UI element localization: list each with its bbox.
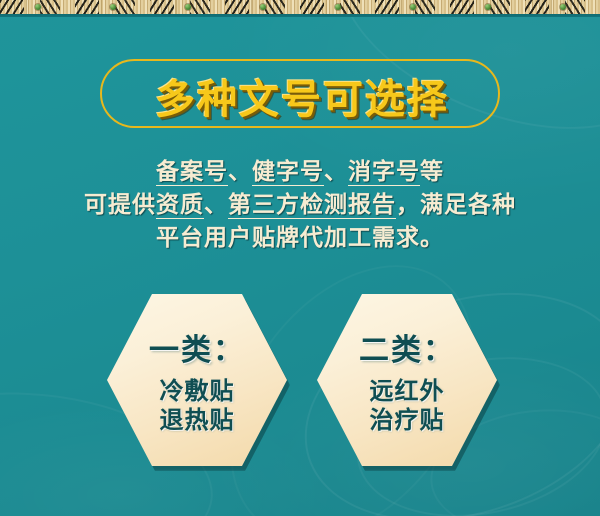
border-dot-icon <box>485 4 491 10</box>
body-text-underlined: 健字号 <box>252 159 324 186</box>
poster-canvas: 多种文号可选择 备案号、健字号、消字号等可提供资质、第三方检测报告，满足各种平台… <box>0 0 600 516</box>
decorative-border <box>0 0 600 17</box>
body-text-run: 、 <box>228 159 252 184</box>
border-dot-icon <box>335 4 341 10</box>
border-dot-icon <box>260 4 266 10</box>
body-line: 备案号、健字号、消字号等 <box>0 155 600 188</box>
body-text-run: ，满足各种 <box>396 192 516 217</box>
body-text-run: 等 <box>420 159 444 184</box>
border-dot-icon <box>35 4 41 10</box>
body-text-underlined: 资质 <box>156 192 204 219</box>
page-title: 多种文号可选择 <box>102 61 502 130</box>
border-baseline <box>0 14 600 17</box>
body-text-underlined: 消字号 <box>348 159 420 186</box>
border-dot-icon <box>410 4 416 10</box>
body-text-run: 可提供 <box>84 192 156 217</box>
border-dot-icon <box>560 4 566 10</box>
category-item: 治疗贴 <box>370 407 445 436</box>
body-line: 可提供资质、第三方检测报告，满足各种 <box>0 188 600 221</box>
body-line: 平台用户贴牌代加工需求。 <box>0 221 600 254</box>
body-text-underlined: 备案号 <box>156 159 228 186</box>
headline-pill: 多种文号可选择 <box>100 59 500 128</box>
body-text-run: 平台用户贴牌代加工需求。 <box>156 225 444 250</box>
category-item: 冷敷贴 <box>160 378 235 407</box>
body-text-run: 、 <box>324 159 348 184</box>
body-text-underlined: 第三方检测报告 <box>228 192 396 219</box>
border-dot-icon <box>185 4 191 10</box>
category-title: 一类： <box>149 325 245 369</box>
body-text-run: 、 <box>204 192 228 217</box>
border-dot-icon <box>110 4 116 10</box>
category-title: 二类： <box>359 325 455 369</box>
body-paragraph: 备案号、健字号、消字号等可提供资质、第三方检测报告，满足各种平台用户贴牌代加工需… <box>0 155 600 254</box>
category-item: 远红外 <box>370 378 445 407</box>
category-item: 退热贴 <box>160 407 235 436</box>
